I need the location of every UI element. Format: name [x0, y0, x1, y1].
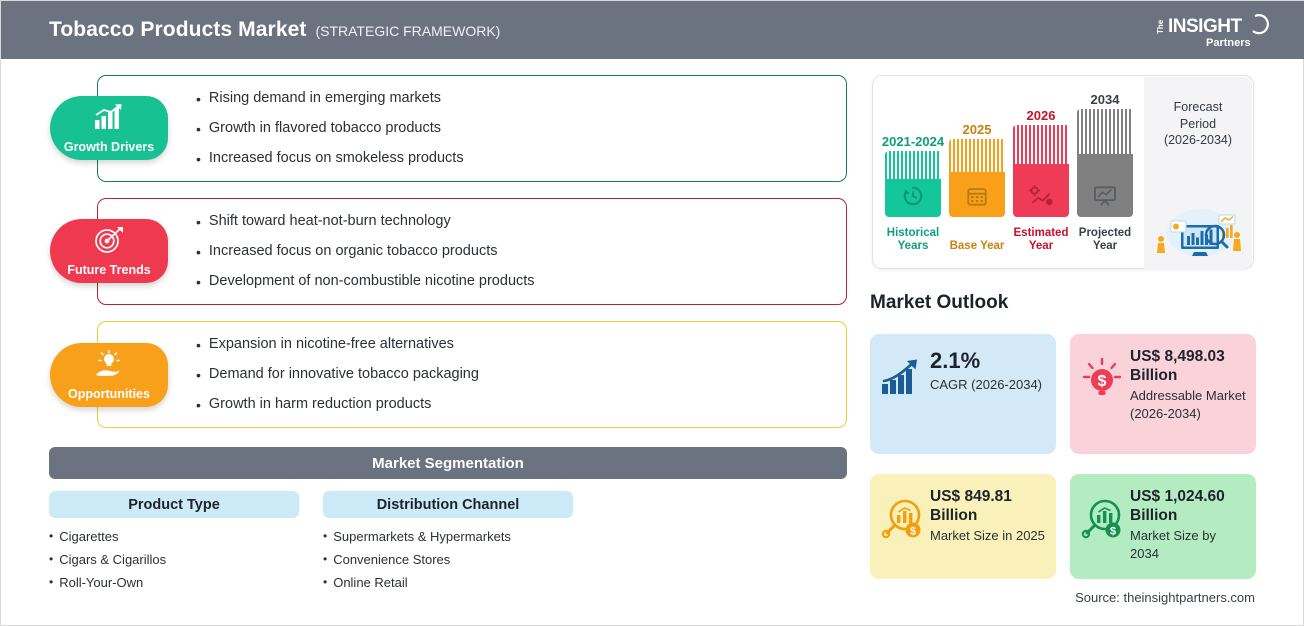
- bar-shape: [1077, 109, 1133, 217]
- badge-label: Opportunities: [68, 387, 150, 401]
- svg-text:The: The: [1156, 19, 1165, 34]
- bar-solid-body: [885, 179, 941, 217]
- bullet-text: Increased focus on smokeless products: [209, 151, 464, 167]
- list-item: •Development of non-combustible nicotine…: [196, 274, 846, 290]
- pillar-growth-drivers: •Rising demand in emerging markets •Grow…: [97, 75, 847, 182]
- target-dart-icon: [93, 226, 125, 254]
- title-group: Tobacco Products Market (STRATEGIC FRAME…: [49, 18, 500, 42]
- insight-partners-logo: The INSIGHT Partners: [1151, 10, 1273, 50]
- svg-text:$: $: [910, 526, 916, 538]
- card-value: US$ 8,498.03 Billion: [1130, 347, 1246, 385]
- segmentation-item-text: Roll-Your-Own: [59, 576, 143, 591]
- list-item: •Cigarettes: [49, 530, 299, 545]
- bar-solid-body: [949, 172, 1005, 217]
- segmentation-column-title: Product Type: [128, 497, 220, 513]
- market-timeline-card: 2021-2024 Historical Years 2025: [872, 75, 1254, 269]
- bullet-text: Growth in harm reduction products: [209, 397, 431, 413]
- bar-solid-body: [1077, 154, 1133, 217]
- market-segmentation-title: Market Segmentation: [372, 455, 524, 472]
- card-value: 2.1%: [930, 347, 1042, 374]
- pillar-future-trends: •Shift toward heat-not-burn technology •…: [97, 198, 847, 305]
- segmentation-item-text: Cigarettes: [59, 530, 118, 545]
- clock-history-icon: [902, 185, 924, 207]
- segmentation-item-text: Supermarkets & Hypermarkets: [333, 530, 511, 545]
- segmentation-items: •Supermarkets & Hypermarkets •Convenienc…: [323, 530, 573, 591]
- card-label: Market Size by 2034: [1130, 527, 1246, 561]
- forecast-period-panel: Forecast Period (2026-2034): [1144, 77, 1252, 269]
- card-icon-wrap: $: [880, 497, 926, 546]
- lightbulb-dollar-icon: $: [1080, 357, 1124, 401]
- card-body: US$ 849.81 Billion Market Size in 2025: [930, 487, 1046, 545]
- bar-stripe-top: [949, 139, 1005, 172]
- card-icon-wrap: $: [1080, 357, 1126, 406]
- card-value: US$ 849.81 Billion: [930, 487, 1046, 525]
- card-label: Addressable Market (2026-2034): [1130, 387, 1246, 421]
- bullet-text: Shift toward heat-not-burn technology: [209, 214, 451, 230]
- lightbulb-hand-icon: [92, 350, 126, 380]
- bar-chart-growth-icon: [93, 103, 125, 131]
- bullet-dot: •: [196, 367, 201, 383]
- bullet-dot: •: [196, 244, 201, 260]
- market-outlook-title: Market Outlook: [870, 292, 1008, 314]
- forecast-line-1: Forecast: [1164, 99, 1232, 116]
- card-value: US$ 1,024.60 Billion: [1130, 487, 1246, 525]
- bullet-text: Growth in flavored tobacco products: [209, 121, 441, 137]
- outlook-card-market-size-2025[interactable]: $ US$ 849.81 Billion Market Size in 2025: [870, 474, 1056, 579]
- card-body: US$ 1,024.60 Billion Market Size by 2034: [1130, 487, 1246, 562]
- bar-solid-body: [1013, 164, 1069, 217]
- outlook-card-addressable-market[interactable]: $ US$ 8,498.03 Billion Addressable Marke…: [1070, 334, 1256, 454]
- bullet-text: Expansion in nicotine-free alternatives: [209, 337, 454, 353]
- list-item: •Increased focus on organic tobacco prod…: [196, 244, 846, 260]
- bullet-dot: •: [196, 274, 201, 290]
- bullet-text: Rising demand in emerging markets: [209, 91, 441, 107]
- magnifier-bars-dollar-icon: $: [880, 497, 924, 541]
- bullet-dot: •: [196, 151, 201, 167]
- header-bar: Tobacco Products Market (STRATEGIC FRAME…: [1, 1, 1304, 59]
- data-analysis-illustration: [1149, 203, 1247, 261]
- bar-stripe-top: [885, 151, 941, 179]
- bar-caption: Base Year: [949, 240, 1005, 254]
- list-item: •Growth in flavored tobacco products: [196, 121, 846, 137]
- forecast-period-text: Forecast Period (2026-2034): [1164, 99, 1232, 149]
- bullet-dot: •: [49, 530, 53, 545]
- bullet-dot: •: [196, 214, 201, 230]
- segmentation-item-text: Cigars & Cigarillos: [59, 553, 166, 568]
- badge-opportunities[interactable]: Opportunities: [50, 343, 168, 407]
- bullet-dot: •: [196, 121, 201, 137]
- bullet-text: Increased focus on organic tobacco produ…: [209, 244, 498, 260]
- svg-text:$: $: [1110, 526, 1116, 538]
- source-attribution: Source: theinsightpartners.com: [1075, 590, 1255, 605]
- forecast-line-2: Period: [1164, 116, 1232, 133]
- list-item: •Shift toward heat-not-burn technology: [196, 214, 846, 230]
- list-item: •Demand for innovative tobacco packaging: [196, 367, 846, 383]
- segmentation-pill[interactable]: Product Type: [49, 491, 299, 518]
- bar-shape: [949, 139, 1005, 217]
- bar-year-label: 2026: [1013, 108, 1069, 123]
- segmentation-item-text: Convenience Stores: [333, 553, 450, 568]
- list-item: •Roll-Your-Own: [49, 576, 299, 591]
- badge-label: Future Trends: [67, 263, 150, 277]
- card-label: CAGR (2026-2034): [930, 376, 1042, 393]
- list-item: •Supermarkets & Hypermarkets: [323, 530, 573, 545]
- svg-text:INSIGHT: INSIGHT: [1168, 16, 1242, 37]
- list-item: •Convenience Stores: [323, 553, 573, 568]
- segmentation-items: •Cigarettes •Cigars & Cigarillos •Roll-Y…: [49, 530, 299, 591]
- infographic-page: Tobacco Products Market (STRATEGIC FRAME…: [0, 0, 1304, 626]
- bar-caption: Projected Year: [1077, 227, 1133, 254]
- market-segmentation-header: Market Segmentation: [49, 447, 847, 479]
- card-icon-wrap: [880, 357, 926, 402]
- settings-forecast-icon: [1029, 185, 1053, 207]
- growth-arrow-chart-icon: [880, 357, 924, 397]
- forecast-line-3: (2026-2034): [1164, 132, 1232, 149]
- card-label: Market Size in 2025: [930, 527, 1046, 544]
- bullet-text: Development of non-combustible nicotine …: [209, 274, 535, 290]
- bullet-dot: •: [196, 397, 201, 413]
- bullet-dot: •: [196, 337, 201, 353]
- bar-stripe-top: [1013, 125, 1069, 164]
- svg-text:$: $: [1098, 373, 1107, 390]
- list-item: •Growth in harm reduction products: [196, 397, 846, 413]
- card-icon-wrap: $: [1080, 497, 1126, 546]
- segmentation-column-product-type: Product Type •Cigarettes •Cigars & Cigar…: [49, 491, 299, 599]
- bullet-dot: •: [196, 91, 201, 107]
- outlook-card-market-size-2034[interactable]: $ US$ 1,024.60 Billion Market Size by 20…: [1070, 474, 1256, 579]
- bar-year-label: 2025: [949, 122, 1005, 137]
- bar-caption: Historical Years: [885, 227, 941, 254]
- bar-caption: Estimated Year: [1013, 227, 1069, 254]
- list-item: •Expansion in nicotine-free alternatives: [196, 337, 846, 353]
- bar-year-label: 2021-2024: [871, 134, 955, 149]
- svg-text:Partners: Partners: [1206, 37, 1251, 49]
- bullet-text: Demand for innovative tobacco packaging: [209, 367, 479, 383]
- page-title: Tobacco Products Market: [49, 18, 306, 42]
- pillar-bullets: •Rising demand in emerging markets •Grow…: [98, 76, 846, 182]
- segmentation-pill[interactable]: Distribution Channel: [323, 491, 573, 518]
- badge-future-trends[interactable]: Future Trends: [50, 219, 168, 283]
- segmentation-column-title: Distribution Channel: [377, 497, 520, 513]
- badge-label: Growth Drivers: [64, 140, 154, 154]
- segmentation-item-text: Online Retail: [333, 576, 407, 591]
- bullet-dot: •: [49, 576, 53, 591]
- badge-growth-drivers[interactable]: Growth Drivers: [50, 96, 168, 160]
- list-item: •Cigars & Cigarillos: [49, 553, 299, 568]
- segmentation-column-distribution-channel: Distribution Channel •Supermarkets & Hyp…: [323, 491, 573, 599]
- bar-shape: [1013, 125, 1069, 217]
- monitor-chart-icon: [1093, 185, 1117, 207]
- bar-stripe-top: [1077, 109, 1133, 154]
- timeline-bars: 2021-2024 Historical Years 2025: [885, 76, 1135, 270]
- bar-shape: [885, 151, 941, 217]
- card-body: US$ 8,498.03 Billion Addressable Market …: [1130, 347, 1246, 422]
- bullet-dot: •: [323, 530, 327, 545]
- list-item: •Rising demand in emerging markets: [196, 91, 846, 107]
- magnifier-bars-dollar-icon: $: [1080, 497, 1124, 541]
- calendar-icon: [966, 185, 988, 207]
- list-item: •Increased focus on smokeless products: [196, 151, 846, 167]
- outlook-card-cagr[interactable]: 2.1% CAGR (2026-2034): [870, 334, 1056, 454]
- bullet-dot: •: [49, 553, 53, 568]
- bullet-dot: •: [323, 576, 327, 591]
- list-item: •Online Retail: [323, 576, 573, 591]
- bullet-dot: •: [323, 553, 327, 568]
- card-body: 2.1% CAGR (2026-2034): [930, 347, 1042, 393]
- page-subtitle: (STRATEGIC FRAMEWORK): [315, 23, 500, 39]
- pillar-bullets: •Shift toward heat-not-burn technology •…: [98, 199, 846, 305]
- pillar-opportunities: •Expansion in nicotine-free alternatives…: [97, 321, 847, 428]
- pillar-bullets: •Expansion in nicotine-free alternatives…: [98, 322, 846, 428]
- bar-year-label: 2034: [1077, 92, 1133, 107]
